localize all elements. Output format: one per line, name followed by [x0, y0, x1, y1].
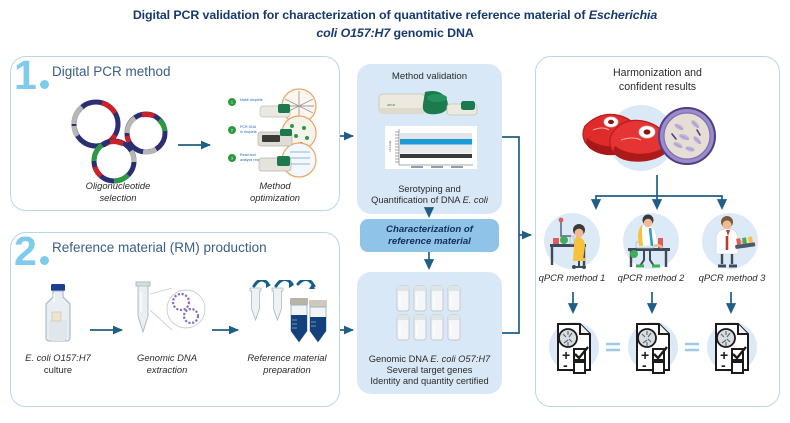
title-species-coli-serotype: coli O157:H7: [316, 26, 390, 40]
genomic-line2: Several target genes: [387, 365, 473, 375]
result-report-3: + -: [706, 318, 758, 381]
svg-text:-: -: [642, 357, 647, 373]
svg-text:-: -: [721, 357, 726, 373]
panel-2-heading: Reference material (RM) production: [52, 240, 267, 255]
panel-2-number: 2: [14, 234, 49, 268]
method-validation-box: Method validation dPCR: [357, 64, 502, 214]
panel-2-step-1-label: E. coli O157:H7culture: [8, 352, 108, 375]
panel-2-step-2-label: Genomic DNAextraction: [112, 352, 222, 375]
qpcr-method-3-label: qPCR method 3: [694, 272, 770, 284]
characterization-line2: reference material: [388, 236, 471, 247]
harmonization-line1: Harmonization and: [613, 67, 702, 79]
report-document-icon: + -: [716, 324, 748, 373]
qpcr-method-1-label: qPCR method 1: [536, 272, 608, 284]
svg-text:dPCR: dPCR: [387, 103, 396, 107]
svg-text:Make droplets: Make droplets: [240, 98, 263, 102]
qpcr-method-2-label: qPCR method 2: [615, 272, 687, 284]
panel-2-number-text: 2: [14, 228, 37, 274]
panel-1-number: 1: [14, 58, 49, 92]
characterization-text: Characterization of reference material: [360, 224, 499, 248]
characterization-box: Characterization of reference material: [360, 219, 499, 252]
panel-2-step-3-label: Reference materialpreparation: [228, 352, 346, 375]
culture-bottle-icon: [36, 282, 80, 349]
panel-2-step-1-label-b: culture: [44, 364, 72, 375]
svg-text:1: 1: [231, 100, 233, 104]
genomic-serotype: O57:H7: [456, 354, 491, 364]
title-line1-text: Digital PCR validation for characterizat…: [133, 8, 589, 22]
svg-text:3: 3: [231, 156, 233, 160]
scientist-pipetting-icon: [620, 212, 682, 275]
svg-text:Ch1 Ampl: Ch1 Ampl: [388, 140, 392, 152]
svg-text:2: 2: [231, 128, 233, 132]
panel-2-number-dot: [40, 256, 49, 265]
panel-1-step-1-label: Oligonucleotideselection: [58, 180, 178, 203]
genomic-line3: Identity and quantity certified: [370, 376, 488, 386]
genomic-box-footer: Genomic DNA E. coli O57:H7 Several targe…: [359, 354, 500, 387]
dpcr-workflow-icon: 123 Make droplets PCR DNAin droplets Rea…: [222, 88, 330, 185]
title-species-escherichia: Escherichia: [589, 8, 657, 22]
genomic-dna-box: Genomic DNA E. coli O57:H7 Several targe…: [357, 272, 502, 394]
falcon-tubes-icon: [242, 280, 332, 351]
genomic-line1a: Genomic DNA: [369, 354, 430, 364]
panel-1-heading: Digital PCR method: [52, 64, 171, 79]
method-validation-footer: Serotyping and Quantification of DNA E. …: [359, 184, 500, 206]
scientist-tray-icon: [699, 212, 761, 275]
validation-footer-species: E. coli: [463, 195, 488, 205]
sample-icons-group: [575, 100, 725, 177]
plasmid-rings-icon: [62, 96, 174, 189]
harmonization-line2: confident results: [619, 81, 696, 93]
report-document-icon: + -: [637, 324, 669, 373]
panel-2-step-1-label-a: E. coli O157:H7: [25, 352, 91, 363]
diagram-canvas: Digital PCR validation for characterizat…: [0, 0, 790, 423]
panel-1-number-text: 1: [14, 52, 37, 98]
title-line2-text: genomic DNA: [390, 26, 473, 40]
cryovial-rack-icon: [393, 282, 469, 349]
result-report-2: + -: [627, 318, 679, 381]
genomic-species: E. coli: [430, 354, 455, 364]
microtube-dna-icon: [128, 280, 206, 349]
svg-text:Read and: Read and: [240, 153, 256, 157]
petri-dish-bacteria-icon: [659, 108, 715, 164]
validation-footer-line1: Serotyping and: [398, 184, 461, 194]
method-validation-header: Method validation: [357, 71, 502, 82]
report-document-icon: + -: [558, 324, 590, 373]
validation-footer-line2a: Quantification of DNA: [371, 195, 462, 205]
result-report-1: + -: [548, 318, 600, 381]
page-title: Digital PCR validation for characterizat…: [60, 6, 730, 42]
dpcr-instrument-icon: dPCR: [375, 86, 487, 129]
panel-1-step-2-label: Methodoptimization: [215, 180, 335, 203]
svg-text:PCR DNA: PCR DNA: [240, 125, 257, 129]
scientist-bench-icon: [541, 212, 603, 275]
panel-1-number-dot: [40, 80, 49, 89]
svg-text:in droplets: in droplets: [240, 130, 257, 134]
droplet-scatter-plot: Ch1 Ampl: [385, 126, 477, 174]
svg-text:-: -: [563, 357, 568, 373]
harmonization-header: Harmonization and confident results: [535, 66, 780, 94]
characterization-line1: Characterization of: [386, 224, 473, 235]
